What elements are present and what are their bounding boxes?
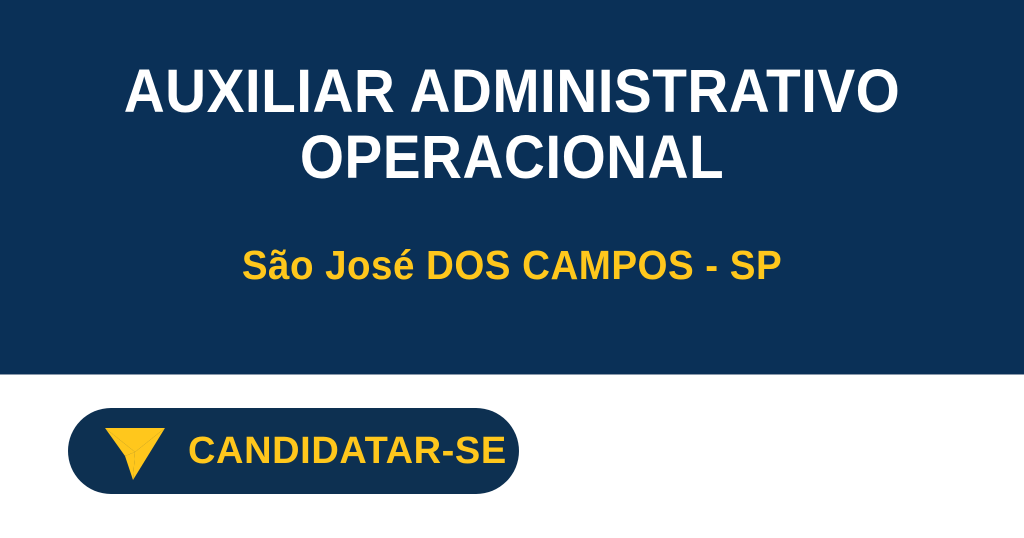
action-bar: CANDIDATAR-SE e EMPREGA SÃO JOS bbox=[0, 375, 1024, 538]
job-title: AUXILIAR ADMINISTRATIVO OPERACIONAL bbox=[84, 58, 940, 190]
send-paper-plane-icon bbox=[102, 418, 168, 484]
candidatar-se-label: CANDIDATAR-SE bbox=[188, 431, 507, 471]
candidatar-se-button[interactable]: CANDIDATAR-SE bbox=[68, 408, 519, 494]
job-location: São José DOS CAMPOS - SP bbox=[80, 242, 945, 288]
job-posting-card: AUXILIAR ADMINISTRATIVO OPERACIONAL São … bbox=[0, 0, 1024, 538]
hero-banner: AUXILIAR ADMINISTRATIVO OPERACIONAL São … bbox=[0, 0, 1024, 375]
